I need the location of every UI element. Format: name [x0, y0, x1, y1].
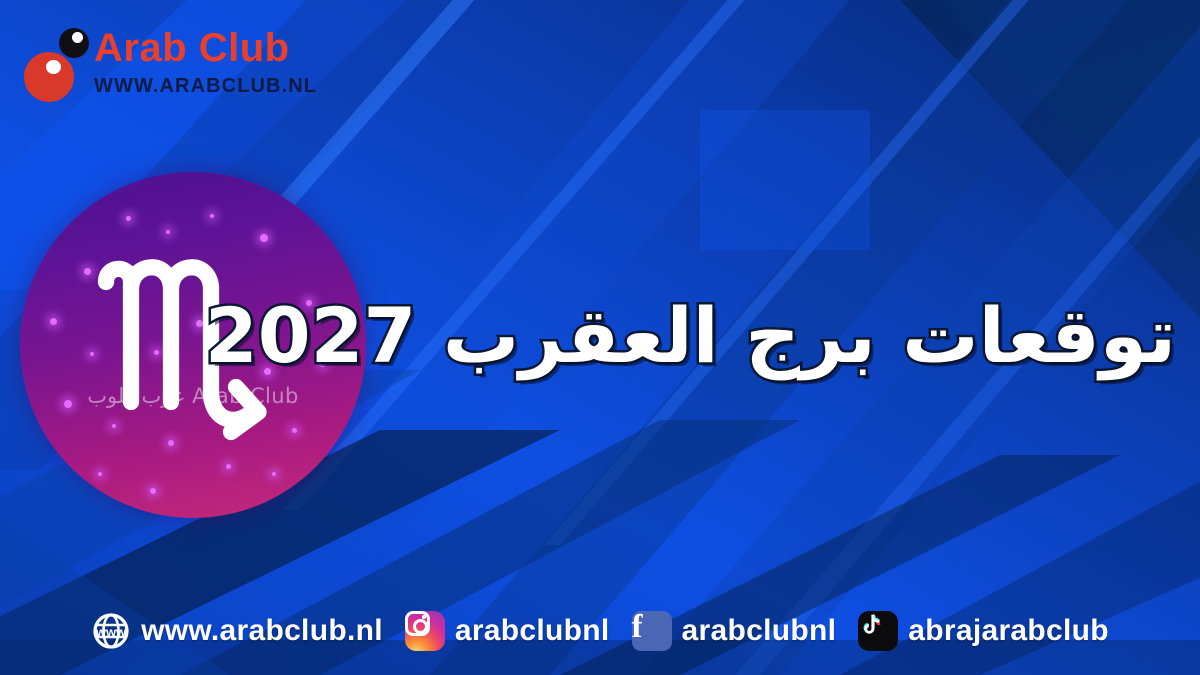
social-label-tiktok: abrajarabclub — [908, 614, 1109, 648]
zodiac-watermark: عرب كلوب Arab Club — [20, 384, 366, 408]
brand-wordmark: Arab Club WWW.ARABCLUB.NL — [94, 22, 317, 98]
social-item-instagram[interactable]: arabclubnl — [405, 611, 610, 651]
brand-url: WWW.ARABCLUB.NL — [94, 75, 317, 98]
social-label-instagram: arabclubnl — [455, 614, 610, 648]
social-bar: www www.arabclub.nl arabclubnl f arabclu… — [0, 611, 1200, 651]
social-item-website[interactable]: www www.arabclub.nl — [91, 611, 383, 651]
svg-text:www: www — [95, 625, 127, 640]
page-title: توقعات برج العقرب 2027 — [364, 292, 1176, 379]
social-item-tiktok[interactable]: abrajarabclub — [858, 611, 1109, 651]
brand-logo[interactable]: Arab Club WWW.ARABCLUB.NL — [22, 22, 317, 100]
facebook-icon: f — [632, 611, 672, 651]
instagram-glyph — [405, 611, 430, 636]
globe-icon: www — [91, 611, 131, 651]
black-ball-icon — [59, 28, 89, 58]
instagram-icon — [405, 611, 445, 651]
red-ball-icon — [24, 52, 74, 102]
social-label-website: www.arabclub.nl — [141, 614, 383, 648]
tiktok-icon — [858, 611, 898, 651]
logo-mark — [22, 22, 84, 100]
social-item-facebook[interactable]: f arabclubnl — [632, 611, 837, 651]
social-label-facebook: arabclubnl — [682, 614, 837, 648]
brand-name: Arab Club — [94, 28, 317, 68]
